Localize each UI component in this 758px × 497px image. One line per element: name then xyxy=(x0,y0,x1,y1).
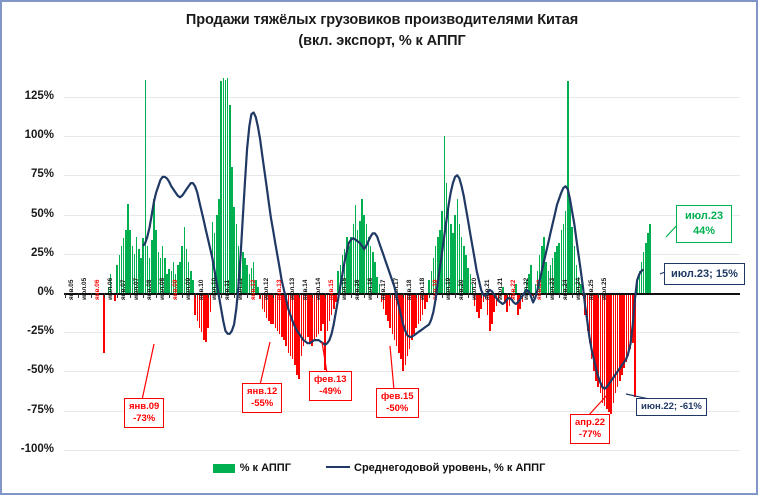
annotation-value: -50% xyxy=(381,403,414,415)
annotation-callout-jun22: июн.22; -61% xyxy=(636,398,707,416)
legend-label-bars: % к АППГ xyxy=(240,462,291,474)
legend-entry-line: Среднегодовой уровень, % к АППГ xyxy=(326,462,545,474)
annotation-label: июн.22; -61% xyxy=(641,401,702,413)
annotation-label: янв.12 xyxy=(247,386,277,398)
annotation-callout-apr22: апр.22-77% xyxy=(570,414,610,444)
annotation-label: фев.13 xyxy=(314,374,347,386)
legend-swatch-line-icon xyxy=(326,466,350,468)
chart-frame: Продажи тяжёлых грузовиков производителя… xyxy=(0,0,758,495)
annotation-value: 44% xyxy=(685,224,723,239)
annotation-value: -55% xyxy=(247,398,277,410)
annotation-callout-feb15: фев.15-50% xyxy=(376,388,419,418)
annotation-callout-jan09: янв.09-73% xyxy=(124,398,164,428)
annotation-value: -77% xyxy=(575,429,605,441)
annotation-callout-jul23line: июл.23; 15% xyxy=(664,263,745,285)
annotation-label: фев.15 xyxy=(381,391,414,403)
annotation-callout-feb13: фев.13-49% xyxy=(309,371,352,401)
legend-entry-bars: % к АППГ xyxy=(213,462,291,474)
legend-swatch-green-icon xyxy=(213,464,235,473)
annotation-value: -73% xyxy=(129,413,159,425)
annotation-label: янв.09 xyxy=(129,401,159,413)
annotation-callout-jan12: янв.12-55% xyxy=(242,383,282,413)
annotation-label: июл.23; 15% xyxy=(671,267,738,281)
annotation-callout-jul23bar: июл.2344% xyxy=(676,205,732,243)
annotation-label: июл.23 xyxy=(685,209,723,224)
annotation-label: апр.22 xyxy=(575,417,605,429)
legend-label-line: Среднегодовой уровень, % к АППГ xyxy=(354,462,545,474)
annotation-value: -49% xyxy=(314,386,347,398)
callout-leaders xyxy=(2,2,758,497)
chart-legend: % к АППГ Среднегодовой уровень, % к АППГ xyxy=(0,462,758,474)
